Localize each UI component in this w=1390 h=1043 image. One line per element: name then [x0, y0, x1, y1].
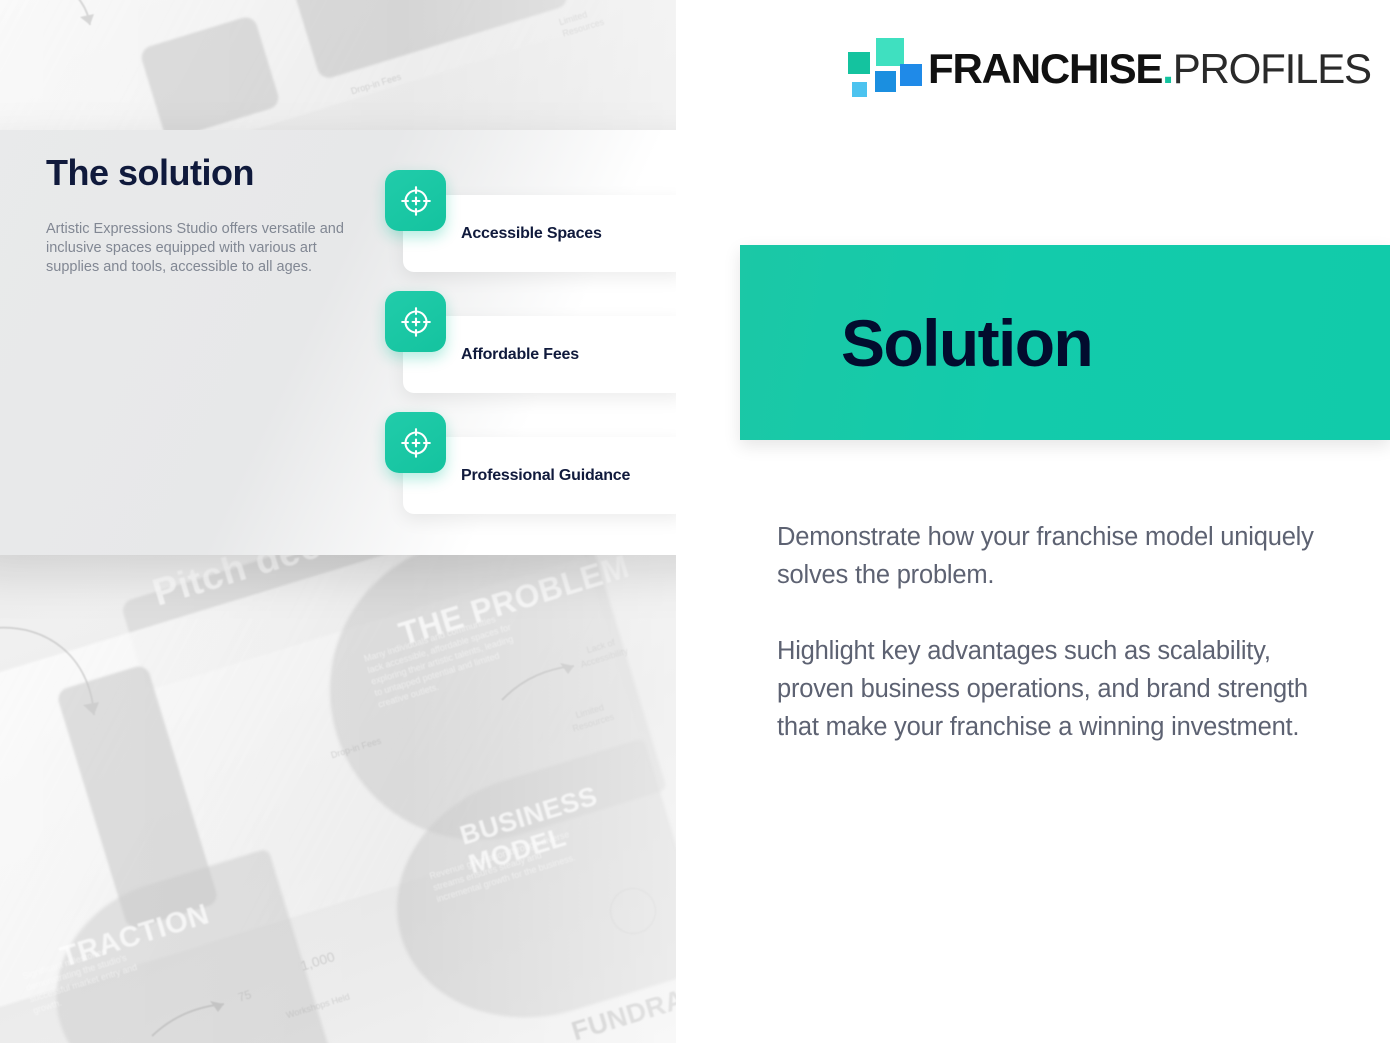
body-paragraph-2: Highlight key advantages such as scalabi…: [777, 632, 1317, 746]
logo-wordmark: FRANCHISE.PROFILES: [928, 48, 1371, 90]
logo-square-5: [852, 82, 867, 97]
deck-arrow-icon: [10, 0, 100, 40]
crosshair-target-icon: [385, 291, 446, 352]
feature-card-label: Accessible Spaces: [461, 225, 602, 243]
logo-square-1: [848, 52, 870, 74]
logo-word-franchise: FRANCHISE: [928, 45, 1162, 92]
deck-arrow-icon: [500, 660, 580, 710]
logo-square-2: [876, 38, 904, 66]
logo-squares-mark: [848, 38, 910, 100]
page-title: Solution: [841, 305, 1092, 381]
logo-square-3: [875, 71, 896, 92]
crosshair-target-icon: [385, 170, 446, 231]
crosshair-target-icon: [385, 412, 446, 473]
logo-square-4: [900, 64, 922, 86]
body-copy-block: Demonstrate how your franchise model uni…: [777, 518, 1317, 746]
slide-preview-text-block: The solution Artistic Expressions Studio…: [46, 152, 376, 277]
slide-preview-title: The solution: [46, 152, 376, 194]
feature-card-label: Affordable Fees: [461, 346, 579, 364]
logo-word-profiles: PROFILES: [1173, 45, 1371, 92]
right-content-panel: FRANCHISE.PROFILES Solution Demonstrate …: [676, 0, 1390, 1043]
deck-arrow-icon: [150, 1000, 230, 1043]
slide-canvas: Limited Resources Lack of Accessibility …: [0, 0, 1390, 1043]
feature-card-label: Professional Guidance: [461, 467, 630, 485]
solution-banner: Solution: [740, 245, 1390, 440]
franchise-profiles-logo[interactable]: FRANCHISE.PROFILES: [848, 38, 1371, 100]
deck-stat-value: 1,000: [299, 950, 336, 972]
logo-dot: .: [1162, 45, 1172, 92]
body-paragraph-1: Demonstrate how your franchise model uni…: [777, 518, 1317, 594]
slide-preview-description: Artistic Expressions Studio offers versa…: [46, 220, 358, 277]
